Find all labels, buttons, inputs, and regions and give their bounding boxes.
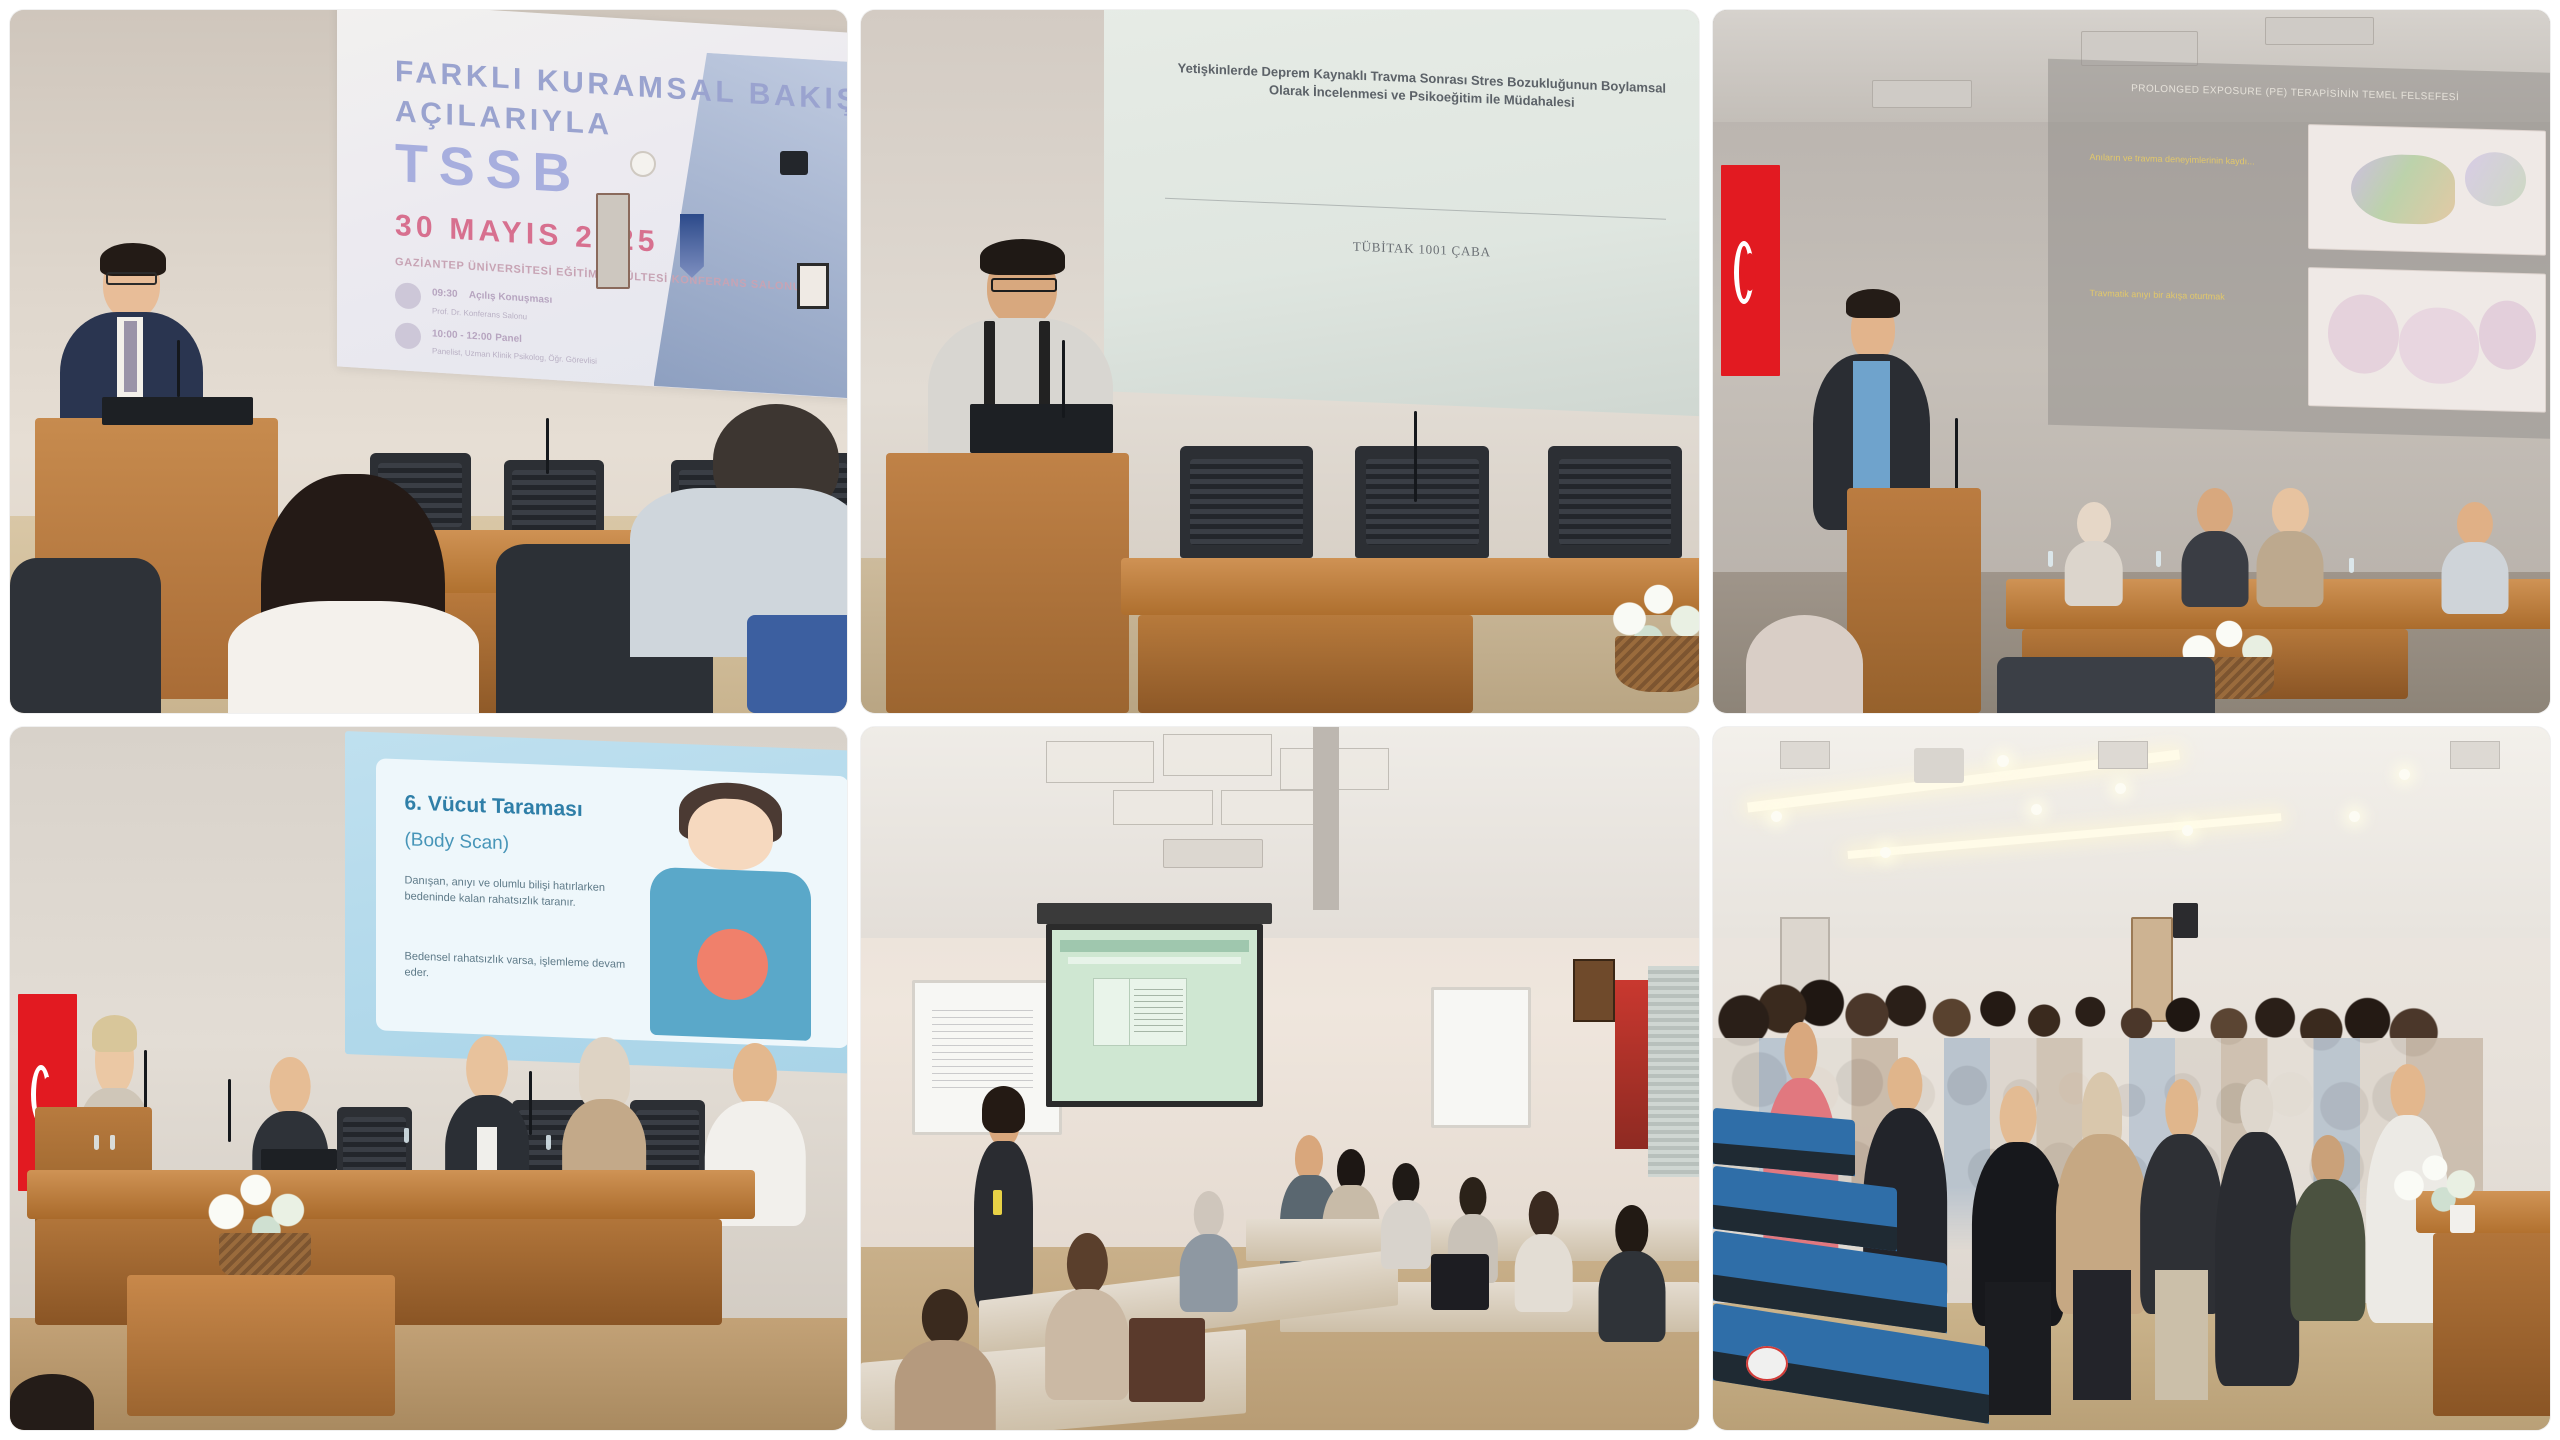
- water-bottle-3: [2349, 558, 2354, 573]
- slide4-heading: 6. Vücut Taraması: [404, 792, 582, 823]
- audience-seats-3: [1997, 657, 2215, 713]
- slide1-agenda-label-2: Panel: [495, 332, 522, 345]
- water-bottle-2: [2156, 551, 2161, 567]
- ceiling-vent-6-2: [2098, 741, 2148, 769]
- table-microphone-2: [1414, 411, 1417, 502]
- wall-speaker: [780, 151, 808, 175]
- seated-participant-5-1: [1380, 1163, 1430, 1261]
- framed-picture: [797, 263, 829, 309]
- slide3-bullet-2: Travmatik anıyı bir akışa oturtmak: [2089, 287, 2286, 305]
- paper-cup-6: [2450, 1205, 2475, 1233]
- lectern-microphone-4: [144, 1050, 147, 1113]
- slide1-agenda-label-1: Açılış Konuşması: [468, 290, 551, 306]
- screen-roller: [1037, 903, 1271, 924]
- slide4-illustration: [376, 758, 847, 776]
- seated-participant-5-6: [1046, 1233, 1130, 1388]
- door: [596, 193, 630, 289]
- ceiling-tile-2: [1163, 734, 1272, 776]
- flowers-6: [2383, 1149, 2492, 1212]
- slide4-card: 6. Vücut Taraması (Body Scan) Danışan, a…: [376, 758, 847, 1048]
- audience-seat-left: [10, 558, 161, 713]
- seated-participant-5-5: [1180, 1191, 1239, 1303]
- panel-table-front-2: [1138, 615, 1473, 713]
- slide4-paragraph-2: Bedensel rahatsızlık varsa, işlemleme de…: [404, 949, 631, 990]
- ceiling-vent-6-1: [1780, 741, 1830, 769]
- seated-participant-5-3: [1514, 1191, 1573, 1303]
- slide1-agenda-icon-2: [395, 322, 421, 350]
- slide4-paragraph-1: Danışan, anıyı ve olumlu bilişi hatırlar…: [404, 873, 631, 914]
- water-bottle-4-2: [110, 1135, 115, 1150]
- projection-screen-1: FARKLI KURAMSAL BAKIŞ AÇILARIYLA TSSB 30…: [337, 10, 848, 399]
- seated-person-wheelchair: [2290, 1135, 2365, 1318]
- slide2-title: Yetişkinlerde Deprem Kaynaklı Travma Son…: [1177, 60, 1666, 116]
- slide1-acronym: TSSB: [395, 132, 582, 206]
- side-desk-front-6: [2433, 1233, 2550, 1416]
- wall-clock: [630, 151, 656, 177]
- wall-flag-5: [1615, 980, 1648, 1149]
- flower-basket-2: [1615, 636, 1699, 692]
- ceiling-tile-1: [1046, 741, 1155, 783]
- slide2-funder: TÜBİTAK 1001 ÇABA: [1177, 231, 1666, 267]
- water-bottle-1: [2048, 551, 2053, 567]
- panel-chair-2-1: [1180, 446, 1314, 558]
- front-bench-4: [127, 1275, 395, 1416]
- lectern-laptop: [102, 397, 253, 425]
- brain-lateral-figure: [2307, 125, 2546, 256]
- table-microphone-4-2: [529, 1071, 532, 1134]
- panel-1-opening-speech[interactable]: FARKLI KURAMSAL BAKIŞ AÇILARIYLA TSSB 30…: [10, 10, 847, 713]
- lectern-microphone-2: [1062, 340, 1065, 417]
- seated-participant-5-4: [1598, 1205, 1665, 1332]
- water-bottle-4-1: [94, 1135, 99, 1150]
- seated-participant-5-7: [895, 1289, 995, 1430]
- id-badge: [993, 1190, 1002, 1215]
- slide1-agenda-sub-2: Panelist, Uzman Klinik Psikolog, Öğr. Gö…: [431, 346, 596, 365]
- slide1-agenda-sub-1: Prof. Dr. Konferans Salonu: [431, 306, 526, 321]
- table-microphone: [546, 418, 549, 474]
- slide3-title: PROLONGED EXPOSURE (PE) TERAPİSİNİN TEME…: [2131, 83, 2459, 103]
- panel-chair-2-3: [1548, 446, 1682, 558]
- brain-limbic-figure: [2307, 267, 2546, 413]
- slide1-agenda-icon-1: [395, 282, 421, 310]
- slide1-agenda-time-2: 10:00 - 12:00: [431, 328, 491, 343]
- ceiling-projector: [1914, 748, 1964, 783]
- audience-shoulders: [228, 601, 479, 713]
- whiteboard-right: [1431, 987, 1531, 1128]
- ceiling-vent-2: [2265, 17, 2374, 45]
- panelist-3-4: [2441, 502, 2508, 607]
- panelist-3-2: [2182, 488, 2249, 600]
- handbag-5-2: [1431, 1254, 1490, 1310]
- photo-collage: FARKLI KURAMSAL BAKIŞ AÇILARIYLA TSSB 30…: [0, 0, 2560, 1440]
- audience-seat-blue: [747, 615, 847, 713]
- water-bottle-4-4: [546, 1135, 551, 1150]
- downlight-5: [2115, 783, 2126, 794]
- air-conditioner: [1163, 839, 1263, 867]
- projection-screen-2: Yetişkinlerde Deprem Kaynaklı Travma Son…: [1104, 10, 1699, 416]
- panel-6-group-photo[interactable]: [1713, 727, 2550, 1430]
- slide4-subheading: (Body Scan): [404, 830, 509, 856]
- ceiling-vent-6-3: [2450, 741, 2500, 769]
- turkish-flag-3: [1721, 165, 1780, 376]
- lectern-microphone: [177, 340, 180, 396]
- presenter-person-5: [970, 1093, 1037, 1304]
- downlight-6: [2182, 825, 2193, 836]
- window-blinds: [1648, 966, 1698, 1177]
- wall-portrait: [1573, 959, 1615, 1022]
- ceiling-tile-4: [1113, 790, 1213, 825]
- panel-5-workshop-classroom[interactable]: [861, 727, 1698, 1430]
- panel-chair-2-2: [1355, 446, 1489, 558]
- presenter-laptop: [970, 404, 1112, 453]
- front-person-beige-jacket: [2056, 1079, 2148, 1388]
- lectern-2: [886, 453, 1129, 713]
- front-person-suit: [2215, 1079, 2299, 1374]
- seat-number-badge: [1746, 1346, 1788, 1381]
- ceiling-tile-5: [1221, 790, 1321, 825]
- projection-screen-5: [1046, 924, 1264, 1107]
- slide3-bullet-1: Anıların ve travma deneyimlerinin kaydı.…: [2089, 152, 2266, 170]
- projection-screen-3: PROLONGED EXPOSURE (PE) TERAPİSİNİN TEME…: [2048, 59, 2550, 439]
- lectern-3: [1847, 488, 1981, 713]
- panel-4-body-scan-session[interactable]: 6. Vücut Taraması (Body Scan) Danışan, a…: [10, 727, 847, 1430]
- projection-screen-4: 6. Vücut Taraması (Body Scan) Danışan, a…: [345, 731, 847, 1074]
- panelist-3-1: [2064, 502, 2123, 600]
- slide1-agenda-time-1: 09:30: [431, 288, 457, 301]
- table-microphone-4-1: [228, 1079, 231, 1142]
- panel-table-4: [27, 1170, 755, 1219]
- downlight-2: [1880, 847, 1891, 858]
- wall-speaker-6: [2173, 903, 2198, 938]
- eyeglasses-icon: [106, 272, 157, 285]
- panel-3-prolonged-exposure-talk[interactable]: PROLONGED EXPOSURE (PE) TERAPİSİNİN TEME…: [1713, 10, 2550, 713]
- university-banner: [680, 214, 704, 278]
- panelist-3-3: [2257, 488, 2324, 600]
- water-bottle-4-3: [404, 1128, 409, 1143]
- panel-2-project-presentation[interactable]: Yetişkinlerde Deprem Kaynaklı Travma Son…: [861, 10, 1698, 713]
- handbag-5: [1129, 1318, 1204, 1402]
- eyeglasses-icon-2: [991, 278, 1057, 292]
- audience-head-3: [1746, 615, 1863, 713]
- foreground-head-4: [10, 1374, 94, 1430]
- ceiling-beam: [1313, 727, 1338, 910]
- ceiling-vent-3: [1872, 80, 1972, 108]
- front-person-dark-tshirt: [2140, 1079, 2224, 1388]
